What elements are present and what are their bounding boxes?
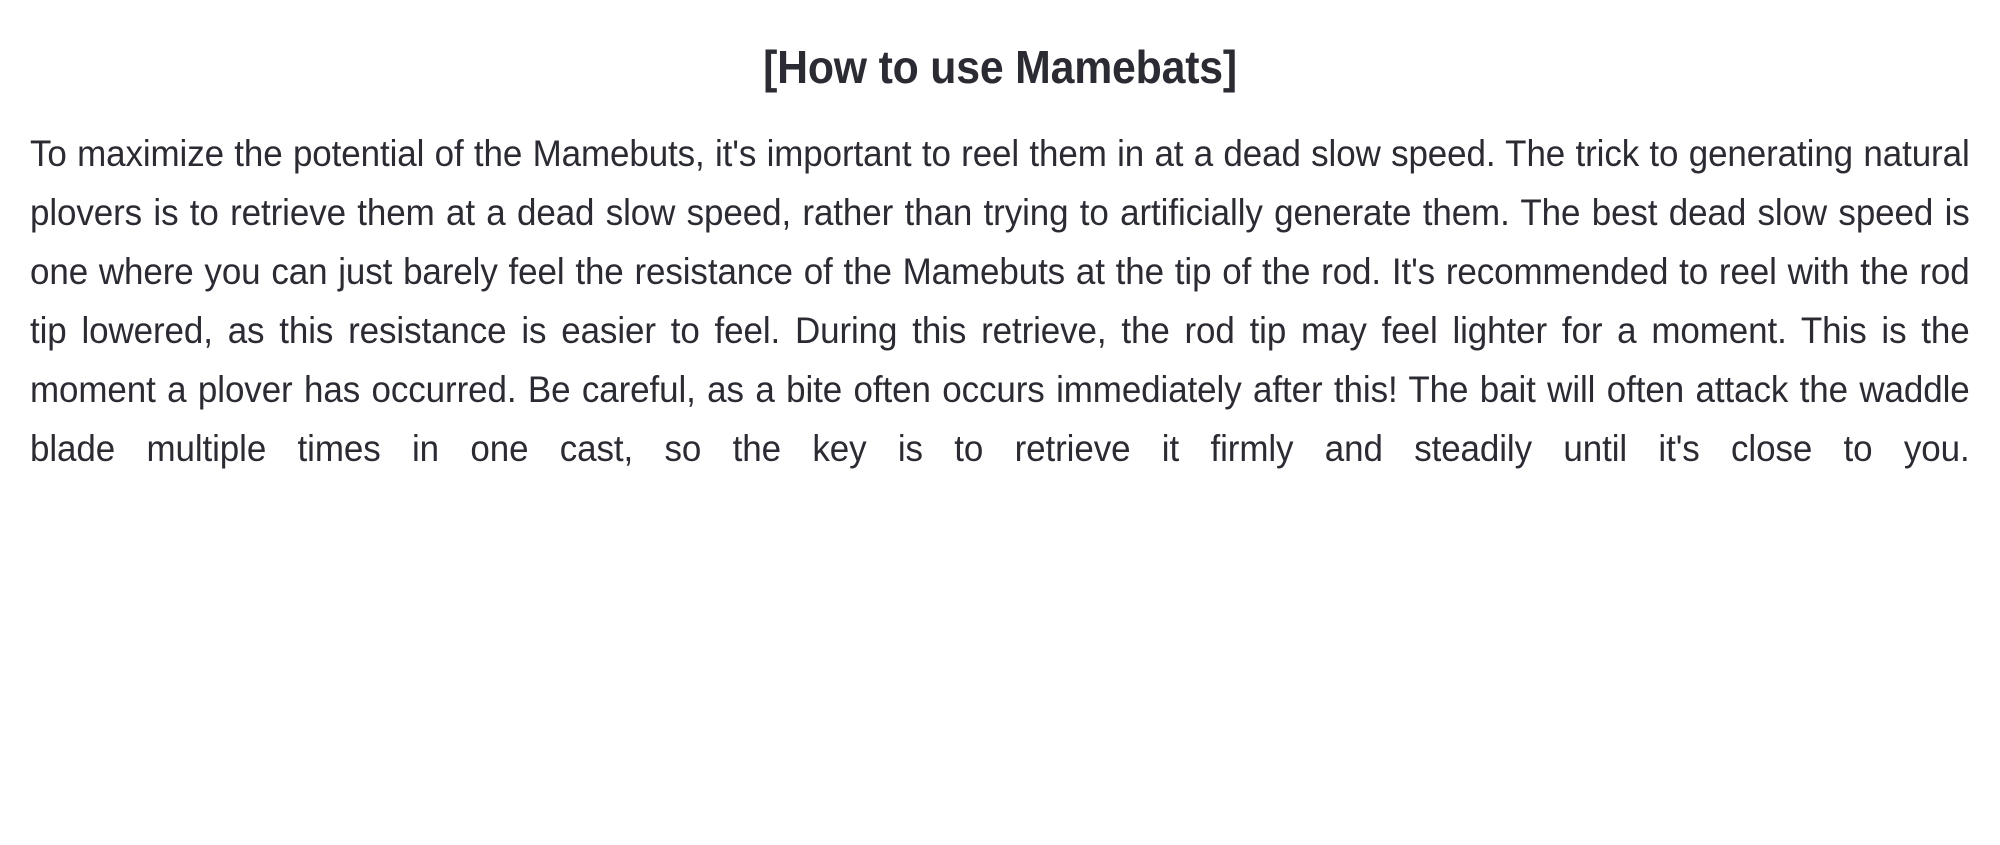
document-body-text: To maximize the potential of the Mamebut… xyxy=(30,124,1970,537)
document-page: [How to use Mamebats] To maximize the po… xyxy=(0,0,2000,845)
page-title: [How to use Mamebats] xyxy=(98,0,1902,90)
